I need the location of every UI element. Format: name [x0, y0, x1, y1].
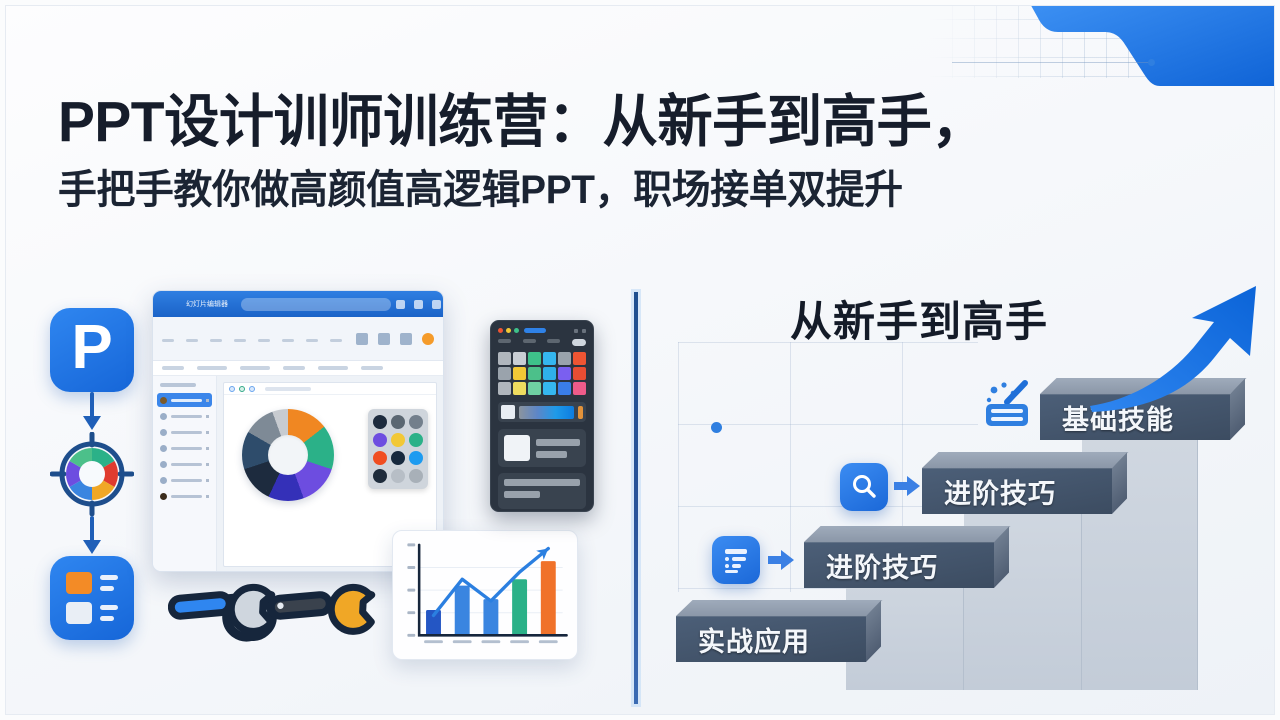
- app-ribbon: [153, 317, 443, 361]
- tab-item[interactable]: [240, 366, 270, 370]
- panel-swatch-grid[interactable]: [498, 352, 586, 395]
- corner-blue-shape: [984, 0, 1280, 86]
- step-advanced-upper[interactable]: 进阶技巧: [922, 452, 1112, 514]
- corner-accent-dot: [1148, 59, 1155, 66]
- slide-name-field[interactable]: [265, 387, 311, 391]
- step-advanced-lower[interactable]: 进阶技巧: [804, 526, 994, 588]
- arrow-right-icon: [894, 476, 920, 496]
- layout-lines-bottom: [100, 602, 118, 624]
- arrow-down-icon: [50, 516, 134, 556]
- text-tool-icon[interactable]: [249, 386, 255, 392]
- ribbon-button[interactable]: [162, 335, 174, 342]
- help-icon[interactable]: [432, 300, 441, 309]
- search-input[interactable]: [241, 298, 391, 311]
- tab-item[interactable]: [162, 366, 184, 370]
- ribbon-button[interactable]: [330, 335, 342, 342]
- ribbon-button[interactable]: [186, 335, 198, 342]
- app-window-title: 幻灯片编辑器: [186, 299, 228, 309]
- ribbon-button[interactable]: [282, 335, 294, 342]
- ribbon-button[interactable]: [210, 335, 222, 342]
- ribbon-button[interactable]: [234, 335, 246, 342]
- layout-thumb-secondary: [66, 602, 92, 624]
- panel-toggle[interactable]: [572, 339, 586, 346]
- color-swatch-pad[interactable]: [368, 409, 428, 489]
- sidebar-item-layout[interactable]: [157, 409, 212, 423]
- redo-icon[interactable]: [378, 333, 390, 345]
- panel-close-icon: [582, 329, 586, 333]
- step-front-face: 实战应用: [676, 616, 866, 662]
- right-illustration-panel: 从新手到高手 基础技能: [640, 280, 1280, 720]
- step-front-face: 进阶技巧: [804, 542, 994, 588]
- bar-chart: [401, 539, 569, 653]
- shape-tool-icon[interactable]: [229, 386, 235, 392]
- magic-edit-icon[interactable]: [980, 378, 1036, 439]
- step-label: 实战应用: [698, 620, 810, 659]
- step-top-face: [922, 452, 1129, 468]
- sidebar-item-assets[interactable]: [157, 473, 212, 487]
- app-tab-strip: [153, 361, 443, 376]
- headline-block: PPT设计训师训练营：从新手到高手， 手把手教你做高颜值高逻辑PPT，职场接单双…: [58, 92, 1240, 212]
- step-riser: [1082, 398, 1198, 690]
- record-icon[interactable]: [422, 333, 434, 345]
- undo-icon[interactable]: [356, 333, 368, 345]
- wrench-orange-icon: [262, 552, 383, 662]
- panel-minimize-icon: [574, 329, 578, 333]
- bar: [483, 599, 498, 635]
- step-label: 进阶技巧: [944, 472, 1056, 511]
- powerpoint-letter: P: [71, 317, 112, 379]
- sidebar-item-export[interactable]: [157, 489, 212, 503]
- powerpoint-icon[interactable]: P: [50, 308, 134, 392]
- growth-arrow-icon: [1088, 282, 1278, 412]
- app-sidebar: [153, 376, 217, 572]
- right-panel-title: 从新手到高手: [790, 288, 1048, 349]
- panel-tab: [547, 339, 560, 343]
- layout-lines-top: [100, 572, 118, 594]
- list-form-icon[interactable]: [712, 536, 760, 584]
- bar: [541, 561, 556, 635]
- palette-icon[interactable]: [501, 405, 515, 419]
- step-top-face: [676, 600, 883, 616]
- gradient-knob[interactable]: [578, 406, 583, 419]
- panel-tabs[interactable]: [498, 339, 586, 346]
- fill-tool-icon[interactable]: [239, 386, 245, 392]
- panel-titlebar: [498, 328, 586, 333]
- panel-footer-block: [498, 473, 586, 509]
- color-picker-panel[interactable]: [490, 320, 594, 512]
- tab-item[interactable]: [283, 366, 305, 370]
- ribbon-button[interactable]: [306, 335, 318, 342]
- step-label: 进阶技巧: [826, 546, 938, 585]
- tab-item[interactable]: [361, 366, 383, 370]
- ribbon-right-actions: [356, 333, 434, 345]
- share-icon[interactable]: [396, 300, 405, 309]
- step-front-face: 进阶技巧: [922, 468, 1112, 514]
- slide-toolbar: [224, 383, 436, 395]
- bar: [455, 586, 470, 636]
- search-icon[interactable]: [840, 463, 888, 511]
- corner-accent-line: [952, 62, 1152, 63]
- panel-tab: [523, 339, 536, 343]
- vertical-divider: [634, 292, 638, 704]
- tab-item[interactable]: [197, 366, 227, 370]
- tool-icons-group: [168, 552, 383, 662]
- arrow-right-icon: [768, 550, 794, 570]
- color-wheel-icon[interactable]: [50, 432, 134, 516]
- table-icon[interactable]: [400, 333, 412, 345]
- gradient-slider-row[interactable]: [498, 402, 586, 422]
- comment-icon[interactable]: [414, 300, 423, 309]
- layout-thumb-primary: [66, 572, 92, 594]
- page-title: PPT设计训师训练营：从新手到高手，: [58, 92, 1205, 154]
- step-practical[interactable]: 实战应用: [676, 600, 866, 662]
- page-subtitle: 手把手教你做高颜值高逻辑PPT，职场接单双提升: [58, 168, 1205, 213]
- panel-preview-block: [498, 429, 586, 467]
- sidebar-item-master[interactable]: [157, 425, 212, 439]
- donut-chart: [242, 409, 334, 501]
- titlebar-actions: [396, 300, 441, 309]
- workflow-icon-column: P: [50, 308, 146, 640]
- slide-layout-icon[interactable]: [50, 556, 134, 640]
- gradient-slider[interactable]: [519, 406, 574, 419]
- tab-item[interactable]: [318, 366, 348, 370]
- sidebar-item-chart[interactable]: [157, 457, 212, 471]
- panel-tab: [498, 339, 511, 343]
- sidebar-heading: [160, 383, 196, 387]
- sidebar-item-animation[interactable]: [157, 441, 212, 455]
- arrow-down-icon: [50, 392, 134, 432]
- poster-canvas: PPT设计训师训练营：从新手到高手， 手把手教你做高颜值高逻辑PPT，职场接单双…: [0, 0, 1280, 720]
- bar: [512, 579, 527, 635]
- bar-chart-card: [392, 530, 578, 660]
- sidebar-item-theme[interactable]: [157, 393, 212, 407]
- ribbon-button[interactable]: [258, 335, 270, 342]
- left-illustration-panel: P: [0, 280, 634, 720]
- preview-swatch: [504, 435, 530, 461]
- step-top-face: [804, 526, 1011, 542]
- app-titlebar: 幻灯片编辑器: [153, 291, 443, 317]
